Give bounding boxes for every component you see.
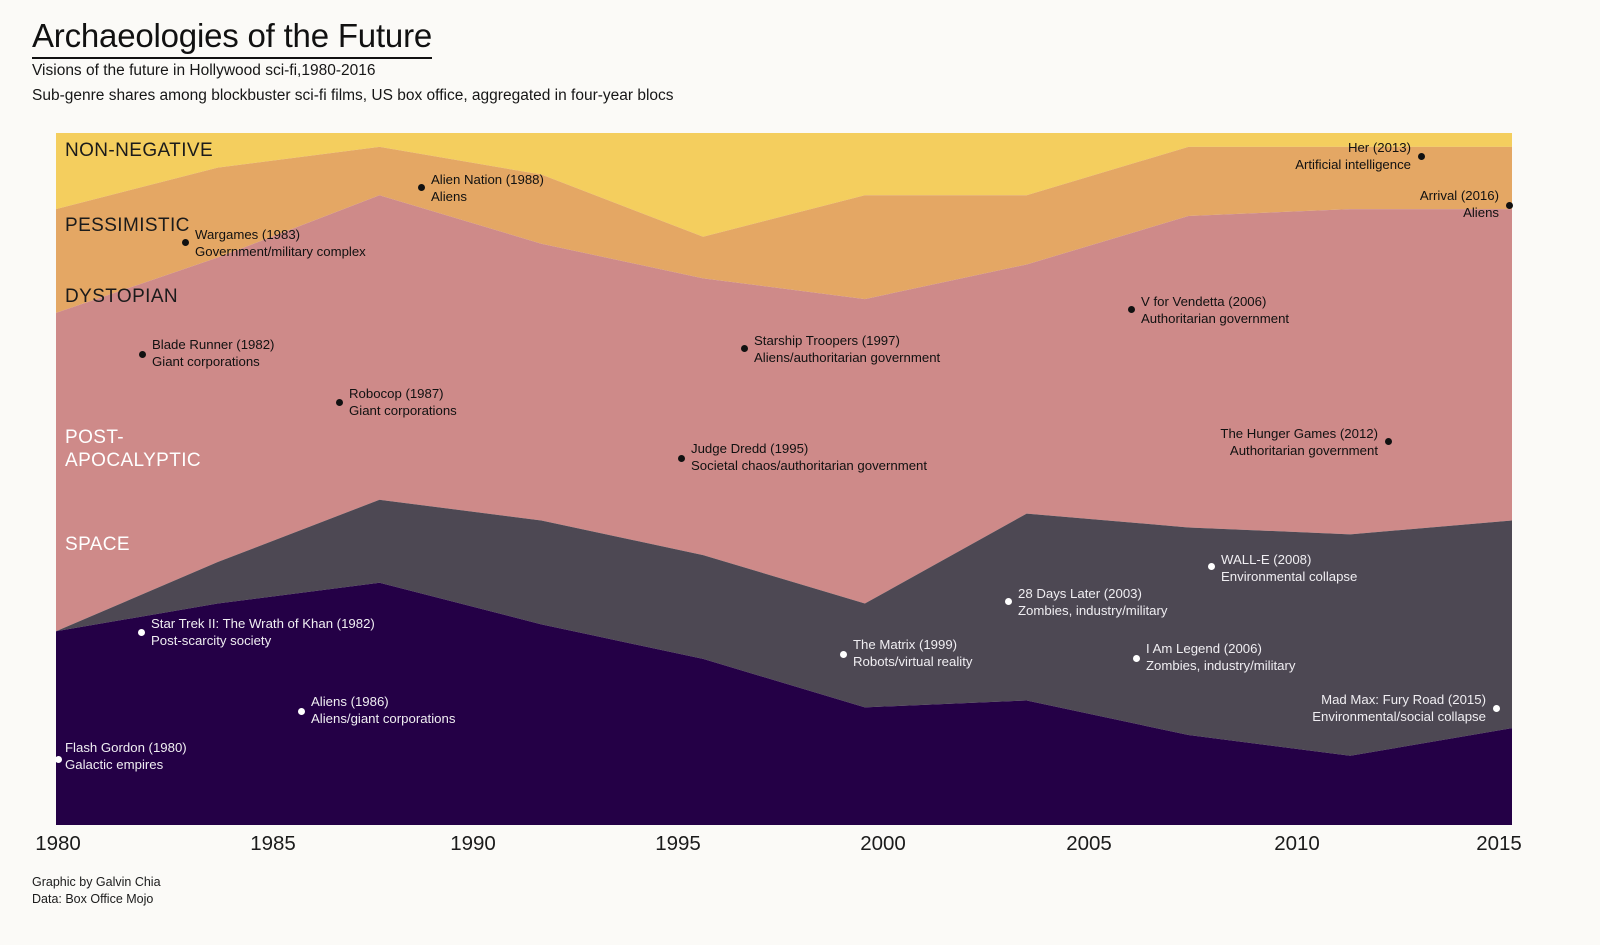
axis-tick-2000: 2000 bbox=[860, 832, 906, 856]
film-dot-star-trek-ii-the-wrath-of-khan-1982 bbox=[138, 629, 145, 636]
film-dot-robocop-1987 bbox=[336, 399, 343, 406]
subtitle-line-1: Visions of the future in Hollywood sci-f… bbox=[32, 62, 376, 80]
film-dot-v-for-vendetta-2006 bbox=[1128, 306, 1135, 313]
axis-tick-2005: 2005 bbox=[1066, 832, 1112, 856]
film-dot-flash-gordon-1980 bbox=[55, 756, 62, 763]
axis-tick-1980: 1980 bbox=[35, 832, 81, 856]
film-dot-wall-e-2008 bbox=[1208, 563, 1215, 570]
film-dot-mad-max-fury-road-2015 bbox=[1493, 705, 1500, 712]
film-dot-blade-runner-1982 bbox=[139, 351, 146, 358]
chart-svg bbox=[56, 133, 1512, 825]
film-dot-aliens-1986 bbox=[298, 708, 305, 715]
film-dot-wargames-1983 bbox=[182, 239, 189, 246]
film-dot-judge-dredd-1995 bbox=[678, 455, 685, 462]
axis-tick-1995: 1995 bbox=[655, 832, 701, 856]
credit-source: Data: Box Office Mojo bbox=[32, 892, 153, 906]
film-dot-the-hunger-games-2012 bbox=[1385, 438, 1392, 445]
credit-author: Graphic by Galvin Chia bbox=[32, 875, 161, 889]
page-title: Archaeologies of the Future bbox=[32, 18, 432, 59]
film-dot-i-am-legend-2006 bbox=[1133, 655, 1140, 662]
film-dot-alien-nation-1988 bbox=[418, 184, 425, 191]
axis-tick-2010: 2010 bbox=[1274, 832, 1320, 856]
film-dot-her-2013 bbox=[1418, 153, 1425, 160]
subtitle-line-2: Sub-genre shares among blockbuster sci-f… bbox=[32, 87, 674, 105]
axis-tick-1990: 1990 bbox=[450, 832, 496, 856]
streamgraph-chart bbox=[56, 133, 1512, 825]
film-dot-28-days-later-2003 bbox=[1005, 598, 1012, 605]
film-dot-starship-troopers-1997 bbox=[741, 345, 748, 352]
film-dot-the-matrix-1999 bbox=[840, 651, 847, 658]
axis-tick-1985: 1985 bbox=[250, 832, 296, 856]
film-dot-arrival-2016 bbox=[1506, 202, 1513, 209]
axis-tick-2015: 2015 bbox=[1476, 832, 1522, 856]
